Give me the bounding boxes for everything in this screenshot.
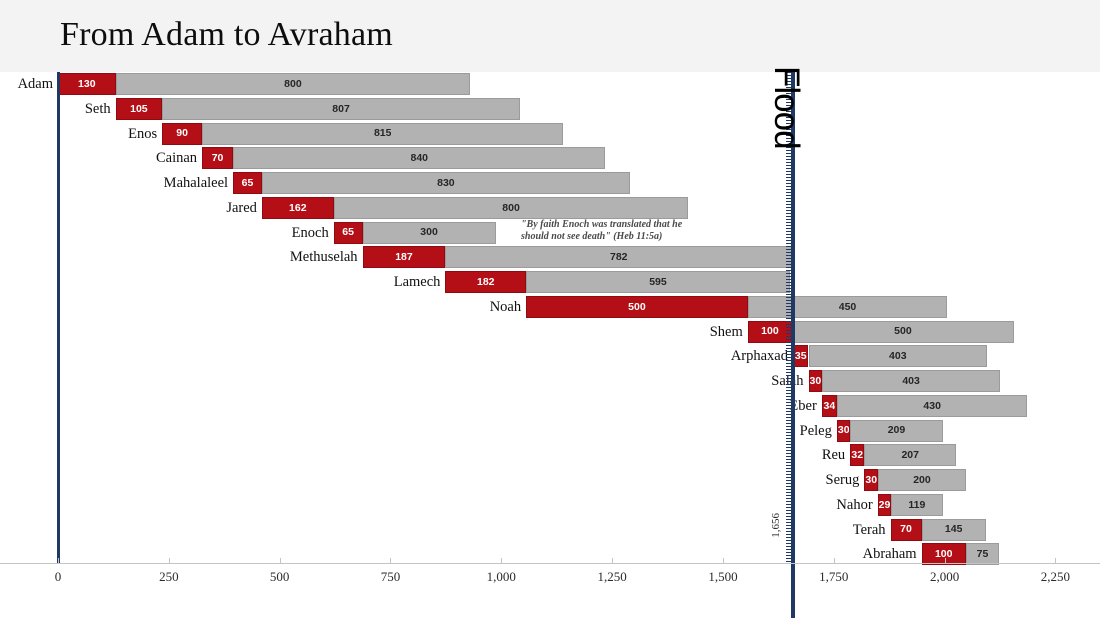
bar-segment-value: 500 xyxy=(628,302,646,313)
bar-segment-value: 30 xyxy=(838,425,849,436)
x-axis-tick-label: 2,250 xyxy=(1041,569,1070,585)
bar-segment-value: 200 xyxy=(913,475,931,486)
bar-row-label: Methuselah xyxy=(290,246,363,268)
bar-segment-value: 65 xyxy=(342,227,354,238)
x-axis-tick xyxy=(612,558,613,563)
bar-segment-value: 830 xyxy=(437,178,455,189)
x-axis-tick-label: 1,750 xyxy=(819,569,848,585)
bar-segment-red: 29 xyxy=(878,494,891,516)
bar-segment-value: 145 xyxy=(945,524,963,535)
bar-segment-gray: 209 xyxy=(850,420,943,442)
bar-segment-value: 782 xyxy=(610,252,628,263)
bar-segment-gray: 200 xyxy=(878,469,967,491)
table-row: Noah500450 xyxy=(0,296,1100,318)
bar-segment-gray: 450 xyxy=(748,296,947,318)
x-axis-tick xyxy=(169,558,170,563)
bar-segment-value: 840 xyxy=(411,153,429,164)
table-row: Eber34430 xyxy=(0,395,1100,417)
table-row: Salah30403 xyxy=(0,370,1100,392)
bar-segment-red: 162 xyxy=(262,197,334,219)
bar-segment-gray: 800 xyxy=(334,197,689,219)
x-axis-tick xyxy=(945,558,946,563)
x-axis-line xyxy=(0,563,1100,564)
table-row: Mahalaleel65830 xyxy=(0,172,1100,194)
bar-segment-red: 30 xyxy=(809,370,822,392)
bar-segment-value: 105 xyxy=(130,104,148,115)
bar-row-label: Shem xyxy=(710,321,748,343)
table-row: Cainan70840 xyxy=(0,147,1100,169)
bar-row-label: Mahalaleel xyxy=(164,172,233,194)
page-title: From Adam to Avraham xyxy=(60,16,393,54)
bar-segment-value: 90 xyxy=(176,128,188,139)
x-axis-tick xyxy=(390,558,391,563)
bar-segment-red: 65 xyxy=(334,222,363,244)
bar-segment-value: 30 xyxy=(810,376,821,387)
bar-segment-gray: 119 xyxy=(891,494,944,516)
table-row: Methuselah187782 xyxy=(0,246,1100,268)
x-axis-tick xyxy=(58,558,59,563)
bar-segment-red: 30 xyxy=(837,420,850,442)
y-axis-line xyxy=(57,72,60,563)
chart-plot-area: Adam130800Seth105807Enos90815Cainan70840… xyxy=(0,72,1100,618)
bars-container: Adam130800Seth105807Enos90815Cainan70840… xyxy=(0,72,1100,562)
bar-row-label: Cainan xyxy=(156,147,202,169)
bar-row-label: Noah xyxy=(490,296,526,318)
bar-segment-red: 130 xyxy=(58,73,116,95)
bar-row-label: Nahor xyxy=(836,494,877,516)
bar-segment-red: 70 xyxy=(891,519,922,541)
bar-segment-red: 182 xyxy=(445,271,526,293)
bar-segment-value: 815 xyxy=(374,128,392,139)
table-row: Lamech182595 xyxy=(0,271,1100,293)
table-row: Seth105807 xyxy=(0,98,1100,120)
x-axis-tick xyxy=(834,558,835,563)
x-axis-tick xyxy=(501,558,502,563)
bar-segment-value: 130 xyxy=(78,79,96,90)
x-axis-tick-label: 2,000 xyxy=(930,569,959,585)
bar-segment-value: 119 xyxy=(908,500,925,511)
bar-row-label: Adam xyxy=(18,73,58,95)
bar-segment-value: 403 xyxy=(902,376,920,387)
table-row: Reu32207 xyxy=(0,444,1100,466)
bar-segment-red: 32 xyxy=(850,444,864,466)
bar-segment-gray: 830 xyxy=(262,172,630,194)
bar-segment-value: 30 xyxy=(865,475,876,486)
bar-row-label: Terah xyxy=(853,519,891,541)
x-axis-tick-label: 1,500 xyxy=(708,569,737,585)
bar-segment-red: 35 xyxy=(793,345,809,367)
bar-segment-value: 35 xyxy=(795,351,807,362)
bar-segment-red: 70 xyxy=(202,147,233,169)
x-axis-tick-label: 500 xyxy=(270,569,290,585)
flood-year-label: 1,656 xyxy=(770,513,782,538)
table-row: Abraham10075 xyxy=(0,543,1100,565)
table-row: Serug30200 xyxy=(0,469,1100,491)
bar-segment-gray: 840 xyxy=(233,147,605,169)
bar-segment-value: 65 xyxy=(242,178,254,189)
bar-segment-gray: 145 xyxy=(922,519,986,541)
bar-segment-value: 75 xyxy=(977,549,989,560)
bar-segment-gray: 807 xyxy=(162,98,520,120)
bar-segment-value: 800 xyxy=(284,79,302,90)
table-row: Terah70145 xyxy=(0,519,1100,541)
table-row: Nahor29119 xyxy=(0,494,1100,516)
table-row: Jared162800 xyxy=(0,197,1100,219)
bar-segment-red: 30 xyxy=(864,469,877,491)
bar-segment-gray: 207 xyxy=(864,444,956,466)
x-axis-tick-label: 250 xyxy=(159,569,179,585)
bar-segment-value: 450 xyxy=(839,302,857,313)
bar-segment-gray: 403 xyxy=(809,345,988,367)
x-axis-tick-label: 1,000 xyxy=(487,569,516,585)
bar-segment-value: 500 xyxy=(894,326,912,337)
bar-segment-red: 65 xyxy=(233,172,262,194)
bar-segment-gray: 300 xyxy=(363,222,496,244)
bar-segment-gray: 403 xyxy=(822,370,1001,392)
bar-segment-gray: 595 xyxy=(526,271,790,293)
bar-segment-red: 187 xyxy=(363,246,446,268)
flood-marker-line xyxy=(791,72,795,618)
x-axis-tick xyxy=(723,558,724,563)
x-axis-tick-label: 1,250 xyxy=(598,569,627,585)
bar-segment-gray: 815 xyxy=(202,123,563,145)
bar-row-label: Peleg xyxy=(800,420,837,442)
bar-row-label: Seth xyxy=(85,98,116,120)
bar-segment-gray: 75 xyxy=(966,543,999,565)
bar-segment-value: 595 xyxy=(649,277,667,288)
bar-row-label: Enoch xyxy=(292,222,334,244)
enoch-annotation: "By faith Enoch was translated that he s… xyxy=(521,219,682,243)
bar-segment-gray: 782 xyxy=(445,246,792,268)
x-axis-tick-label: 0 xyxy=(55,569,62,585)
bar-segment-red: 90 xyxy=(162,123,202,145)
bar-segment-value: 162 xyxy=(289,203,307,214)
table-row: Enos90815 xyxy=(0,123,1100,145)
bar-segment-gray: 430 xyxy=(837,395,1028,417)
x-axis-tick-label: 750 xyxy=(381,569,401,585)
bar-segment-value: 800 xyxy=(502,203,520,214)
bar-segment-value: 34 xyxy=(823,401,835,412)
bar-segment-value: 403 xyxy=(889,351,907,362)
bar-segment-value: 70 xyxy=(212,153,224,164)
bar-segment-value: 32 xyxy=(851,450,863,461)
table-row: Adam130800 xyxy=(0,73,1100,95)
bar-row-label: Serug xyxy=(826,469,865,491)
bar-segment-gray: 800 xyxy=(116,73,471,95)
bar-segment-red: 34 xyxy=(822,395,837,417)
bar-segment-red: 500 xyxy=(526,296,748,318)
bar-row-label: Arphaxad xyxy=(731,345,793,367)
bar-row-label: Lamech xyxy=(394,271,446,293)
x-axis-tick xyxy=(1055,558,1056,563)
bar-segment-value: 100 xyxy=(761,326,779,337)
bar-segment-value: 807 xyxy=(332,104,350,115)
bar-segment-red: 105 xyxy=(116,98,163,120)
bar-row-label: Reu xyxy=(822,444,850,466)
bar-segment-value: 70 xyxy=(900,524,912,535)
bar-segment-value: 430 xyxy=(923,401,941,412)
bar-row-label: Jared xyxy=(226,197,262,219)
table-row: Peleg30209 xyxy=(0,420,1100,442)
bar-row-label: Abraham xyxy=(863,543,922,565)
bar-segment-value: 209 xyxy=(888,425,906,436)
x-axis-tick xyxy=(280,558,281,563)
bar-segment-value: 300 xyxy=(420,227,438,238)
table-row: Arphaxad35403 xyxy=(0,345,1100,367)
bar-segment-value: 182 xyxy=(477,277,495,288)
table-row: Shem100500 xyxy=(0,321,1100,343)
bar-row-label: Enos xyxy=(128,123,162,145)
chart-page: { "header": { "title": "From Adam to Avr… xyxy=(0,0,1100,618)
bar-segment-value: 187 xyxy=(395,252,413,263)
bar-segment-gray: 500 xyxy=(792,321,1014,343)
flood-label: Flood xyxy=(766,66,806,149)
bar-segment-value: 207 xyxy=(901,450,919,461)
bar-segment-value: 29 xyxy=(879,500,890,511)
